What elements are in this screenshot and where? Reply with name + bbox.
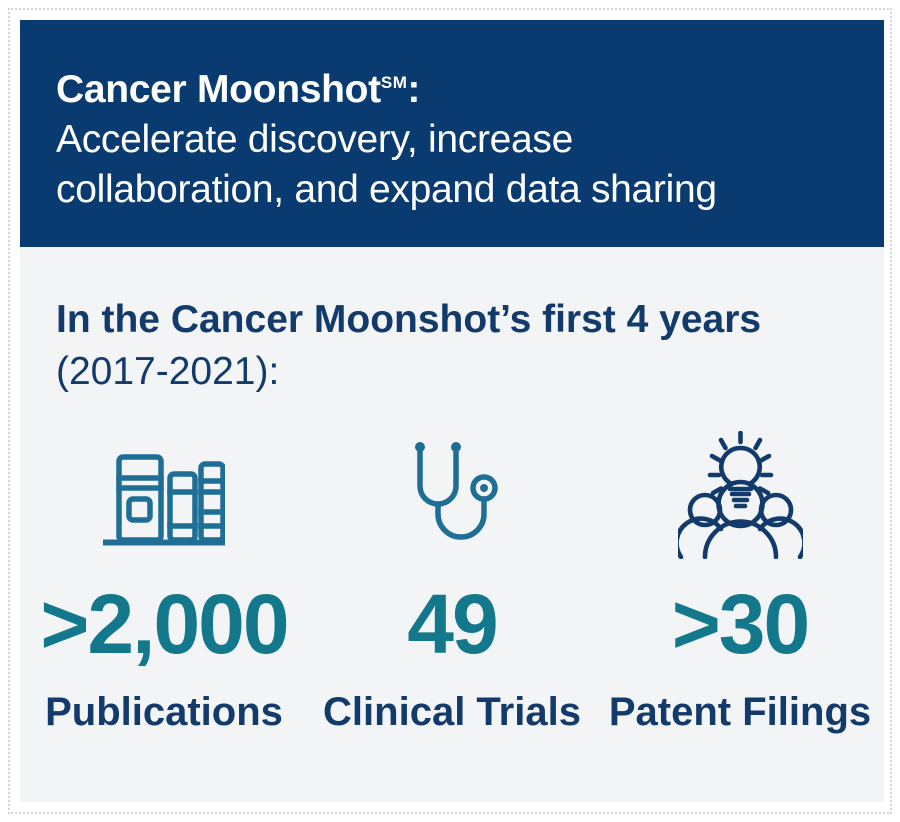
books-icon [103,430,225,560]
infographic-frame: Cancer MoonshotSM: Accelerate discovery,… [8,8,892,814]
stat-label-patent-filings: Patent Filings [609,692,871,732]
stats-row: >2,000 Publications 49 C [20,430,884,732]
stat-value-clinical-trials: 49 [407,582,496,666]
header-band: Cancer MoonshotSM: Accelerate discovery,… [20,20,884,247]
subheading-line-1: In the Cancer Moonshot’s first 4 years [56,294,876,346]
stat-clinical-trials: 49 Clinical Trials [308,430,596,732]
subheading-line-2: (2017-2021): [56,346,876,398]
header-title-colon: : [407,68,420,111]
stat-value-publications: >2,000 [40,582,287,666]
stat-patent-filings: >30 Patent Filings [596,430,884,732]
header-title: Cancer MoonshotSM: [56,58,852,115]
header-subtitle-line-2: collaboration, and expand data sharing [56,165,852,215]
stat-label-clinical-trials: Clinical Trials [323,692,581,732]
service-mark: SM [381,73,408,92]
subheading: In the Cancer Moonshot’s first 4 years (… [56,294,876,398]
people-lightbulb-icon [678,430,803,560]
header-title-text: Cancer Moonshot [56,68,381,111]
stat-label-publications: Publications [45,692,283,732]
header-subtitle-line-1: Accelerate discovery, increase [56,115,852,165]
stat-publications: >2,000 Publications [20,430,308,732]
stethoscope-icon [402,430,502,560]
stat-value-patent-filings: >30 [672,582,809,666]
